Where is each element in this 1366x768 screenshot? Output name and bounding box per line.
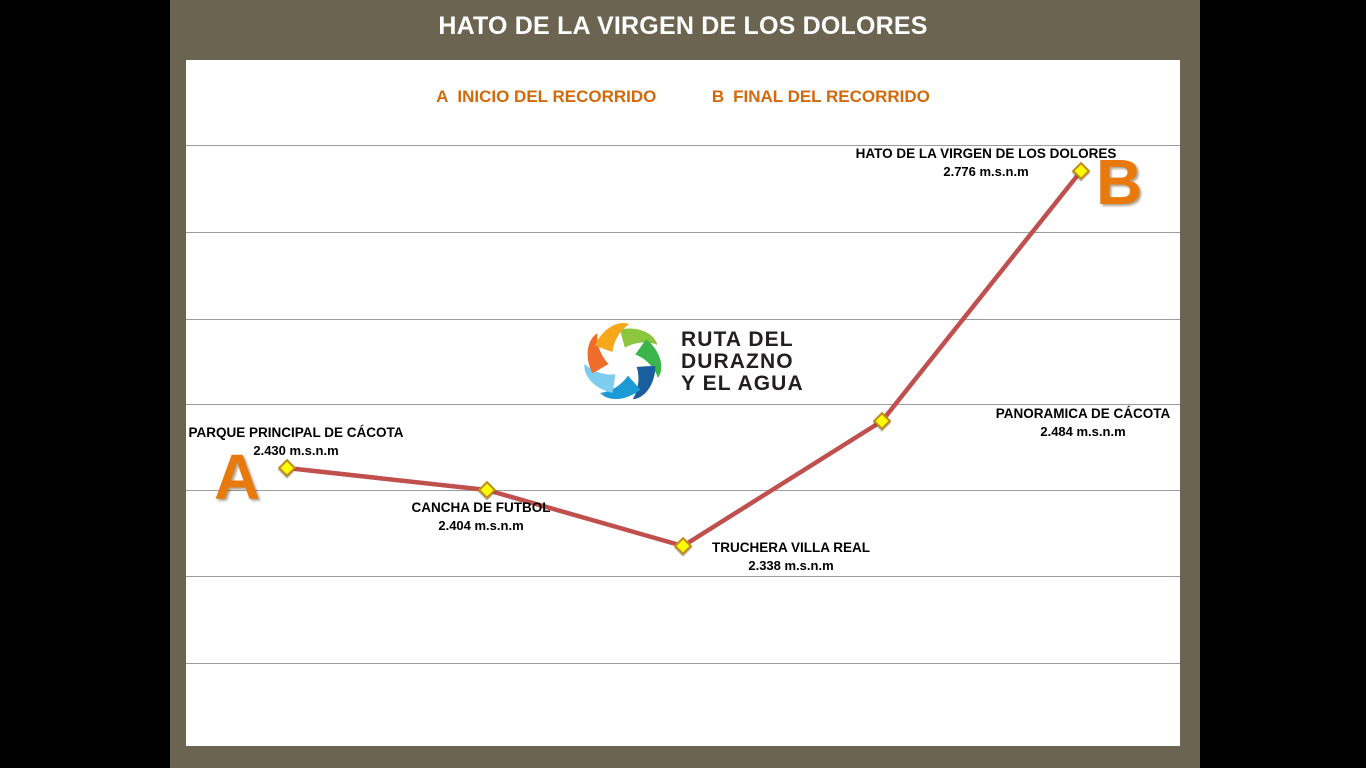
data-label-parque-principal: PARQUE PRINCIPAL DE CÁCOTA 2.430 m.s.n.m: [171, 423, 421, 461]
data-label-cancha-futbol: CANCHA DE FUTBOL 2.404 m.s.n.m: [341, 498, 621, 536]
data-label-elevation: 2.776 m.s.n.m: [731, 163, 1241, 181]
data-label-name: PARQUE PRINCIPAL DE CÁCOTA: [188, 425, 403, 440]
data-label-hato-virgen-dolores: HATO DE LA VIRGEN DE LOS DOLORES 2.776 m…: [731, 144, 1241, 182]
chart-panel: AINICIO DEL RECORRIDO BFINAL DEL RECORRI…: [186, 60, 1180, 746]
brand-line-2: DURAZNO: [681, 351, 804, 373]
slide-stage: HATO DE LA VIRGEN DE LOS DOLORES AINICIO…: [0, 0, 1366, 768]
endpoint-letter-b: B: [1096, 150, 1142, 214]
data-label-name: PANORAMICA DE CÁCOTA: [996, 406, 1171, 421]
plot-area: PARQUE PRINCIPAL DE CÁCOTA 2.430 m.s.n.m…: [186, 60, 1180, 746]
page-title: HATO DE LA VIRGEN DE LOS DOLORES: [186, 12, 1180, 41]
endpoint-letter-a: A: [214, 445, 260, 509]
data-label-elevation: 2.338 m.s.n.m: [641, 557, 941, 575]
data-label-truchera-villa-real: TRUCHERA VILLA REAL 2.338 m.s.n.m: [641, 538, 941, 576]
data-label-name: CANCHA DE FUTBOL: [412, 500, 551, 515]
brand-logo-text: RUTA DEL DURAZNO Y EL AGUA: [681, 329, 804, 396]
data-label-elevation: 2.430 m.s.n.m: [171, 442, 421, 460]
letterbox-left: [0, 0, 170, 768]
letterbox-right: [1200, 0, 1366, 768]
brand-line-1: RUTA DEL: [681, 329, 804, 351]
data-label-name: TRUCHERA VILLA REAL: [712, 540, 870, 555]
data-label-name: HATO DE LA VIRGEN DE LOS DOLORES: [856, 146, 1117, 161]
brand-line-3: Y EL AGUA: [681, 373, 804, 395]
data-label-elevation: 2.404 m.s.n.m: [341, 517, 621, 535]
brand-logo: RUTA DEL DURAZNO Y EL AGUA: [575, 320, 837, 404]
pinwheel-swirl-logo-icon: [575, 320, 671, 404]
